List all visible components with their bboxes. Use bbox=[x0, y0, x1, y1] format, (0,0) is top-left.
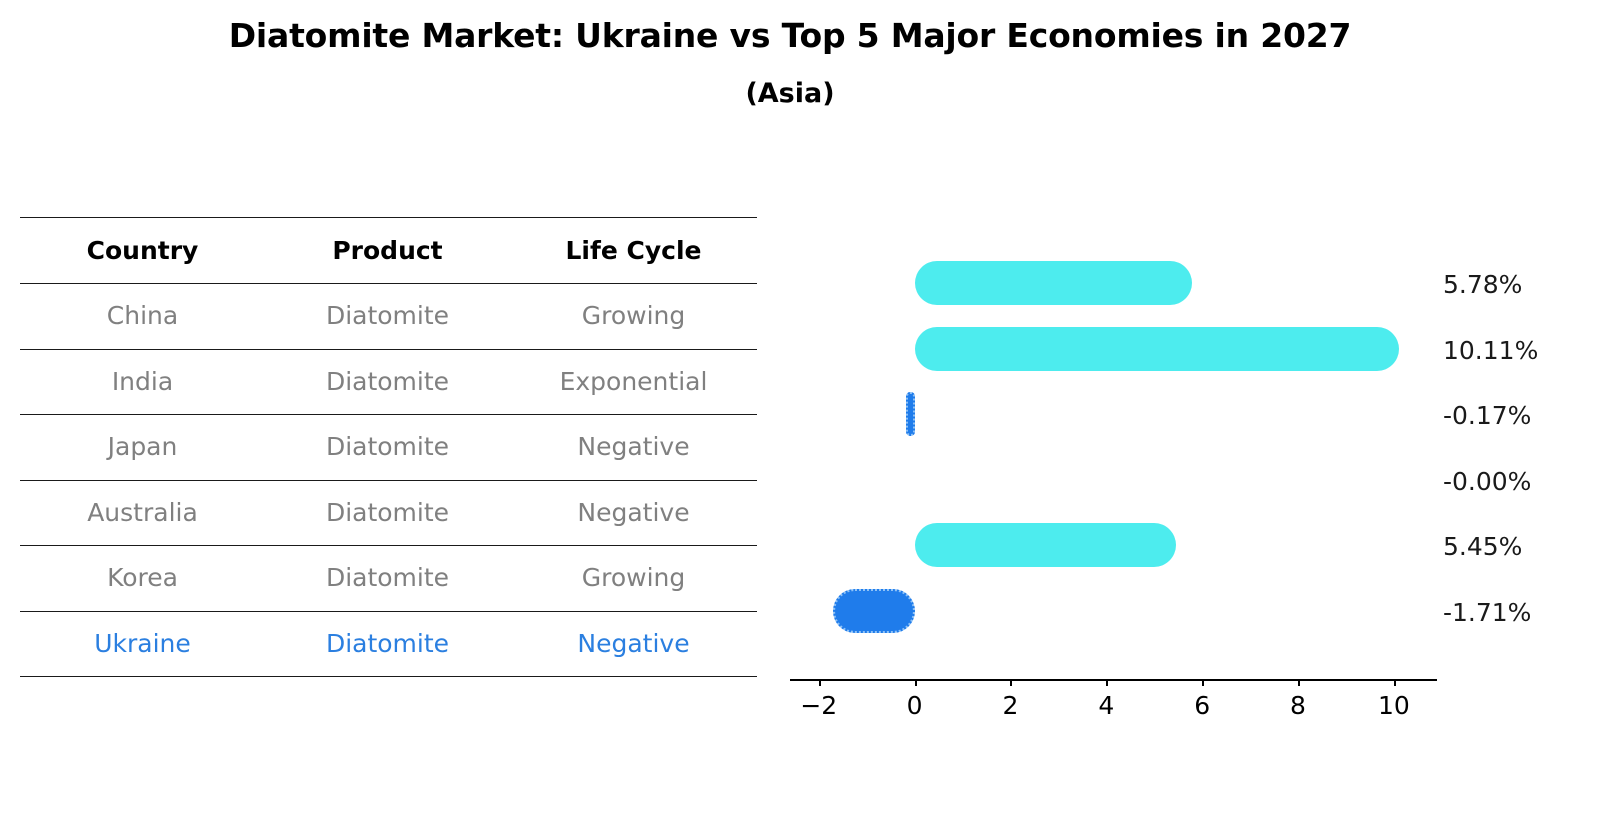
x-tick-label: 10 bbox=[1378, 691, 1410, 720]
bar-china[interactable] bbox=[915, 261, 1192, 305]
column-header-product: Product bbox=[265, 236, 510, 265]
column-header-country: Country bbox=[20, 236, 265, 265]
cell-country: Japan bbox=[20, 432, 265, 461]
cell-country: Korea bbox=[20, 563, 265, 592]
value-label-australia: -0.00% bbox=[1443, 467, 1531, 496]
cell-life_cycle: Growing bbox=[510, 563, 757, 592]
page-subtitle: (Asia) bbox=[0, 78, 1580, 109]
cell-country: China bbox=[20, 301, 265, 330]
cell-life_cycle: Growing bbox=[510, 301, 757, 330]
plot-area: 5.78%10.11%-0.17%-0.00%5.45%-1.71% bbox=[760, 217, 1460, 681]
x-tick-label: 4 bbox=[1098, 691, 1114, 720]
bar-japan[interactable] bbox=[906, 392, 914, 436]
table-row[interactable]: JapanDiatomiteNegative bbox=[20, 414, 757, 480]
cell-product: Diatomite bbox=[265, 432, 510, 461]
table-row[interactable]: IndiaDiatomiteExponential bbox=[20, 349, 757, 415]
table-row[interactable]: AustraliaDiatomiteNegative bbox=[20, 480, 757, 546]
x-tick-label: 8 bbox=[1290, 691, 1306, 720]
x-tick-mark bbox=[1394, 679, 1396, 686]
bar-chart: 5.78%10.11%-0.17%-0.00%5.45%-1.71% −2024… bbox=[760, 217, 1460, 697]
cell-life_cycle: Exponential bbox=[510, 367, 757, 396]
cell-product: Diatomite bbox=[265, 367, 510, 396]
table-row[interactable]: KoreaDiatomiteGrowing bbox=[20, 545, 757, 611]
value-label-ukraine: -1.71% bbox=[1443, 598, 1531, 627]
cell-life_cycle: Negative bbox=[510, 432, 757, 461]
cell-product: Diatomite bbox=[265, 563, 510, 592]
x-tick-mark bbox=[819, 679, 821, 686]
x-tick-label: −2 bbox=[800, 691, 837, 720]
cell-country: Ukraine bbox=[20, 629, 265, 658]
cell-product: Diatomite bbox=[265, 629, 510, 658]
table-row[interactable]: ChinaDiatomiteGrowing bbox=[20, 283, 757, 349]
country-table: CountryProductLife CycleChinaDiatomiteGr… bbox=[20, 217, 757, 683]
bar-india[interactable] bbox=[915, 327, 1400, 371]
chart-page: Diatomite Market: Ukraine vs Top 5 Major… bbox=[0, 0, 1604, 823]
cell-product: Diatomite bbox=[265, 301, 510, 330]
page-title: Diatomite Market: Ukraine vs Top 5 Major… bbox=[0, 16, 1580, 55]
column-header-life-cycle: Life Cycle bbox=[510, 236, 757, 265]
x-tick-mark bbox=[1298, 679, 1300, 686]
cell-life_cycle: Negative bbox=[510, 498, 757, 527]
bar-ukraine[interactable] bbox=[833, 589, 915, 633]
x-tick-label: 6 bbox=[1194, 691, 1210, 720]
cell-country: India bbox=[20, 367, 265, 396]
value-label-india: 10.11% bbox=[1443, 336, 1538, 365]
x-tick-mark bbox=[915, 679, 917, 686]
value-label-japan: -0.17% bbox=[1443, 401, 1531, 430]
cell-life_cycle: Negative bbox=[510, 629, 757, 658]
x-tick-label: 0 bbox=[907, 691, 923, 720]
x-axis-line bbox=[790, 679, 1437, 681]
value-label-korea: 5.45% bbox=[1443, 532, 1522, 561]
x-tick-label: 2 bbox=[1003, 691, 1019, 720]
table-header-row: CountryProductLife Cycle bbox=[20, 217, 757, 283]
x-tick-mark bbox=[1106, 679, 1108, 686]
cell-country: Australia bbox=[20, 498, 265, 527]
value-label-china: 5.78% bbox=[1443, 270, 1522, 299]
x-tick-mark bbox=[1202, 679, 1204, 686]
table-rule bbox=[20, 676, 757, 677]
table-row[interactable]: UkraineDiatomiteNegative bbox=[20, 611, 757, 677]
bar-korea[interactable] bbox=[915, 523, 1176, 567]
cell-product: Diatomite bbox=[265, 498, 510, 527]
x-tick-mark bbox=[1010, 679, 1012, 686]
